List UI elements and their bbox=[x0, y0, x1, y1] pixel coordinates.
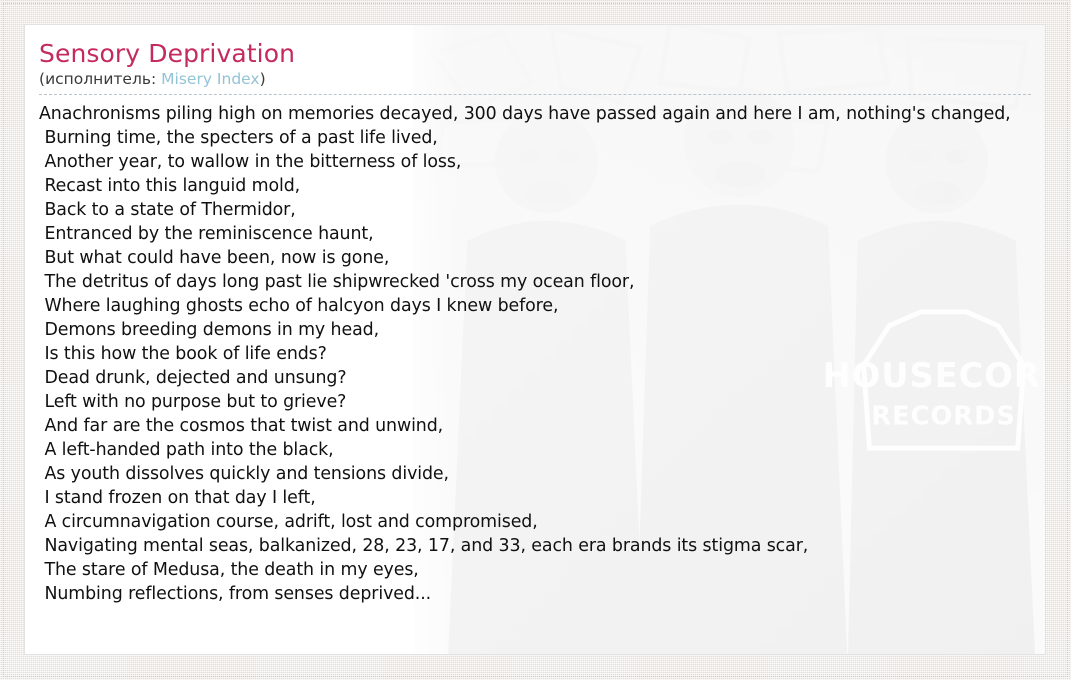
artist-link[interactable]: Misery Index bbox=[161, 70, 259, 88]
lyrics-text-layer: Sensory Deprivation (исполнитель: Misery… bbox=[25, 25, 1045, 654]
lyrics-body: Anachronisms piling high on memories dec… bbox=[39, 95, 1045, 606]
artist-paren-close: ) bbox=[260, 70, 266, 88]
page-title: Sensory Deprivation bbox=[39, 38, 1045, 69]
artist-line: (исполнитель: Misery Index) bbox=[39, 69, 1045, 94]
artist-label: исполнитель: bbox=[45, 70, 161, 88]
lyrics-content-panel: HOUSECORE RECORDS Sensory Deprivation (и… bbox=[24, 24, 1046, 655]
decorative-page-frame: HOUSECORE RECORDS Sensory Deprivation (и… bbox=[0, 0, 1071, 680]
